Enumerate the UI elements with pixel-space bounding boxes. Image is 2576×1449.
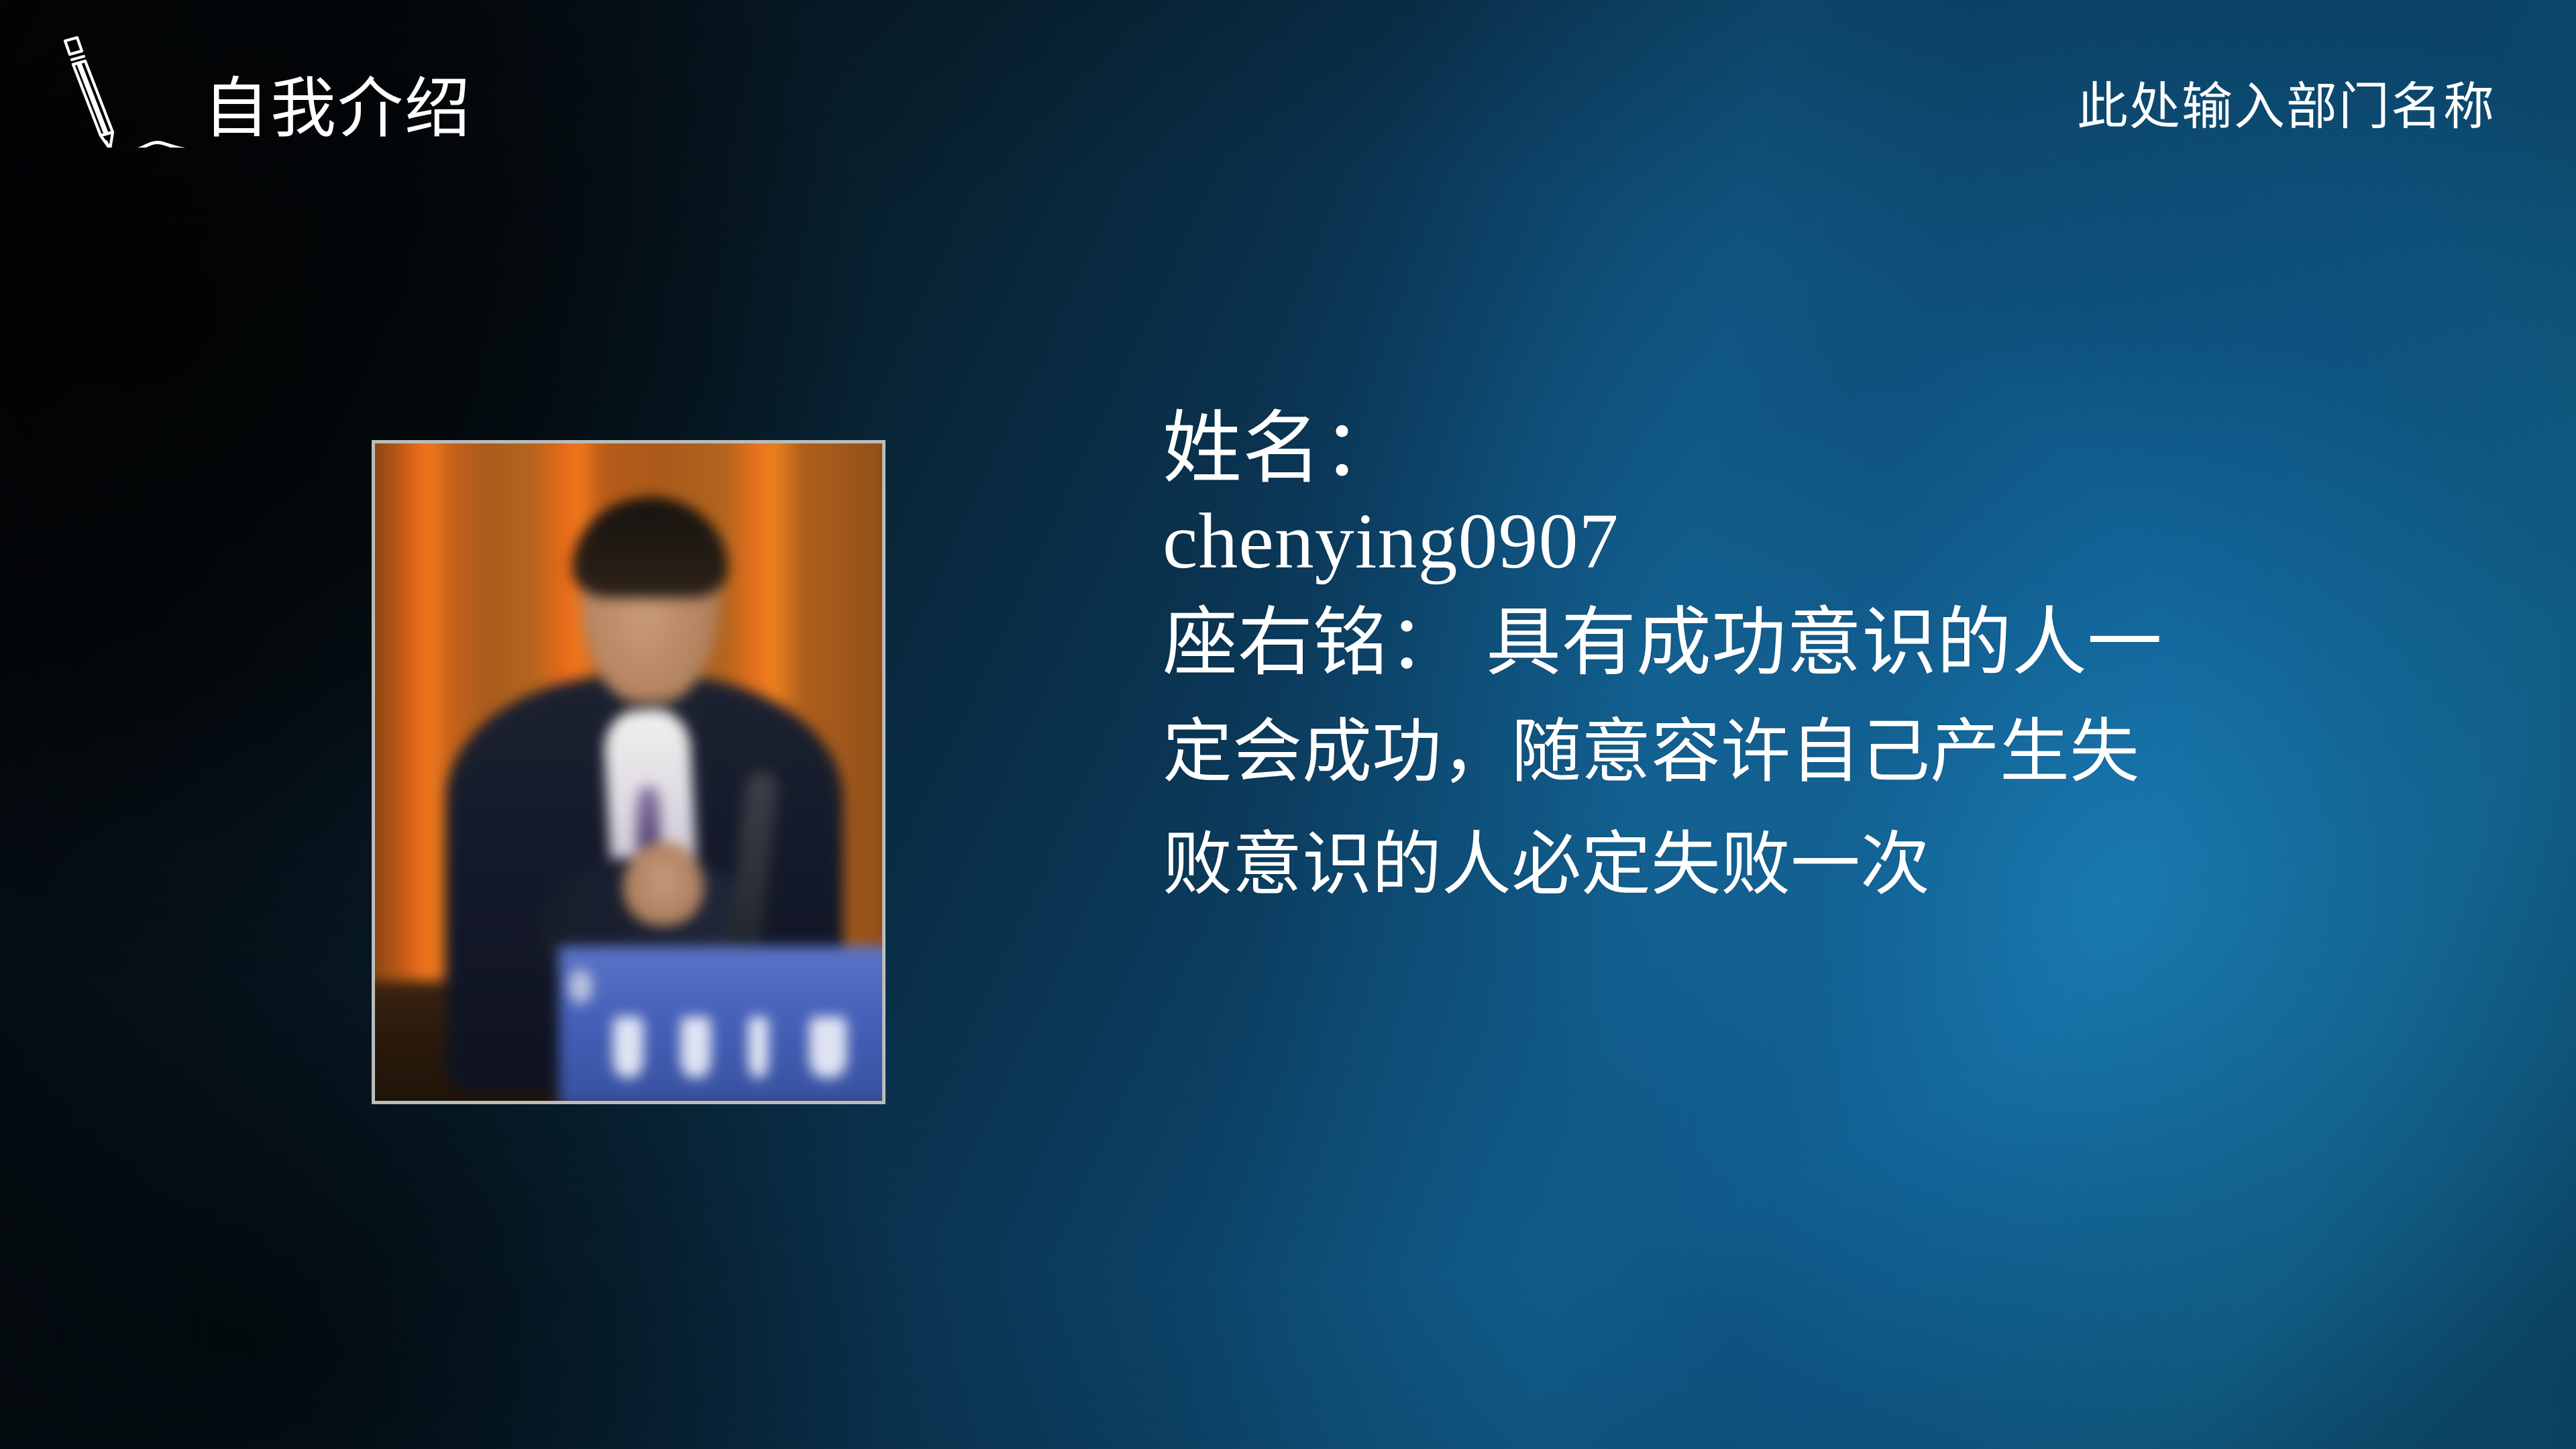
pencil-writing-icon xyxy=(52,34,186,148)
name-value: chenying0907 xyxy=(1163,496,2477,587)
motto-first-line: 座右铭：具有成功意识的人一 xyxy=(1163,591,2477,696)
name-label: 姓名： xyxy=(1163,402,2477,496)
department-name-placeholder: 此处输入部门名称 xyxy=(2077,82,2495,133)
motto-label: 座右铭： xyxy=(1163,602,1463,685)
profile-photo-image xyxy=(372,440,885,1104)
motto-line-3: 败意识的人必定失败一次 xyxy=(1163,809,2477,922)
motto-line-2: 定会成功，随意容许自己产生失 xyxy=(1163,696,2477,809)
photo-nameplate-glyph xyxy=(681,1017,711,1078)
photo-nameplate-glyph xyxy=(809,1017,847,1078)
photo-nameplate-emblem xyxy=(569,969,592,1004)
slide-canvas: 自我介绍 此处输入部门名称 姓名： chenying0907 xyxy=(0,0,2576,1449)
page-title: 自我介绍 xyxy=(203,75,472,141)
motto-line-1: 具有成功意识的人一 xyxy=(1486,602,2162,685)
photo-nameplate-glyph xyxy=(749,1017,769,1078)
photo-nameplate xyxy=(559,947,885,1104)
photo-person-hand xyxy=(623,842,704,926)
profile-photo xyxy=(372,440,885,1104)
profile-info-block: 姓名： chenying0907 座右铭：具有成功意识的人一 定会成功，随意容许… xyxy=(1163,402,2477,922)
photo-nameplate-glyph xyxy=(613,1017,643,1078)
